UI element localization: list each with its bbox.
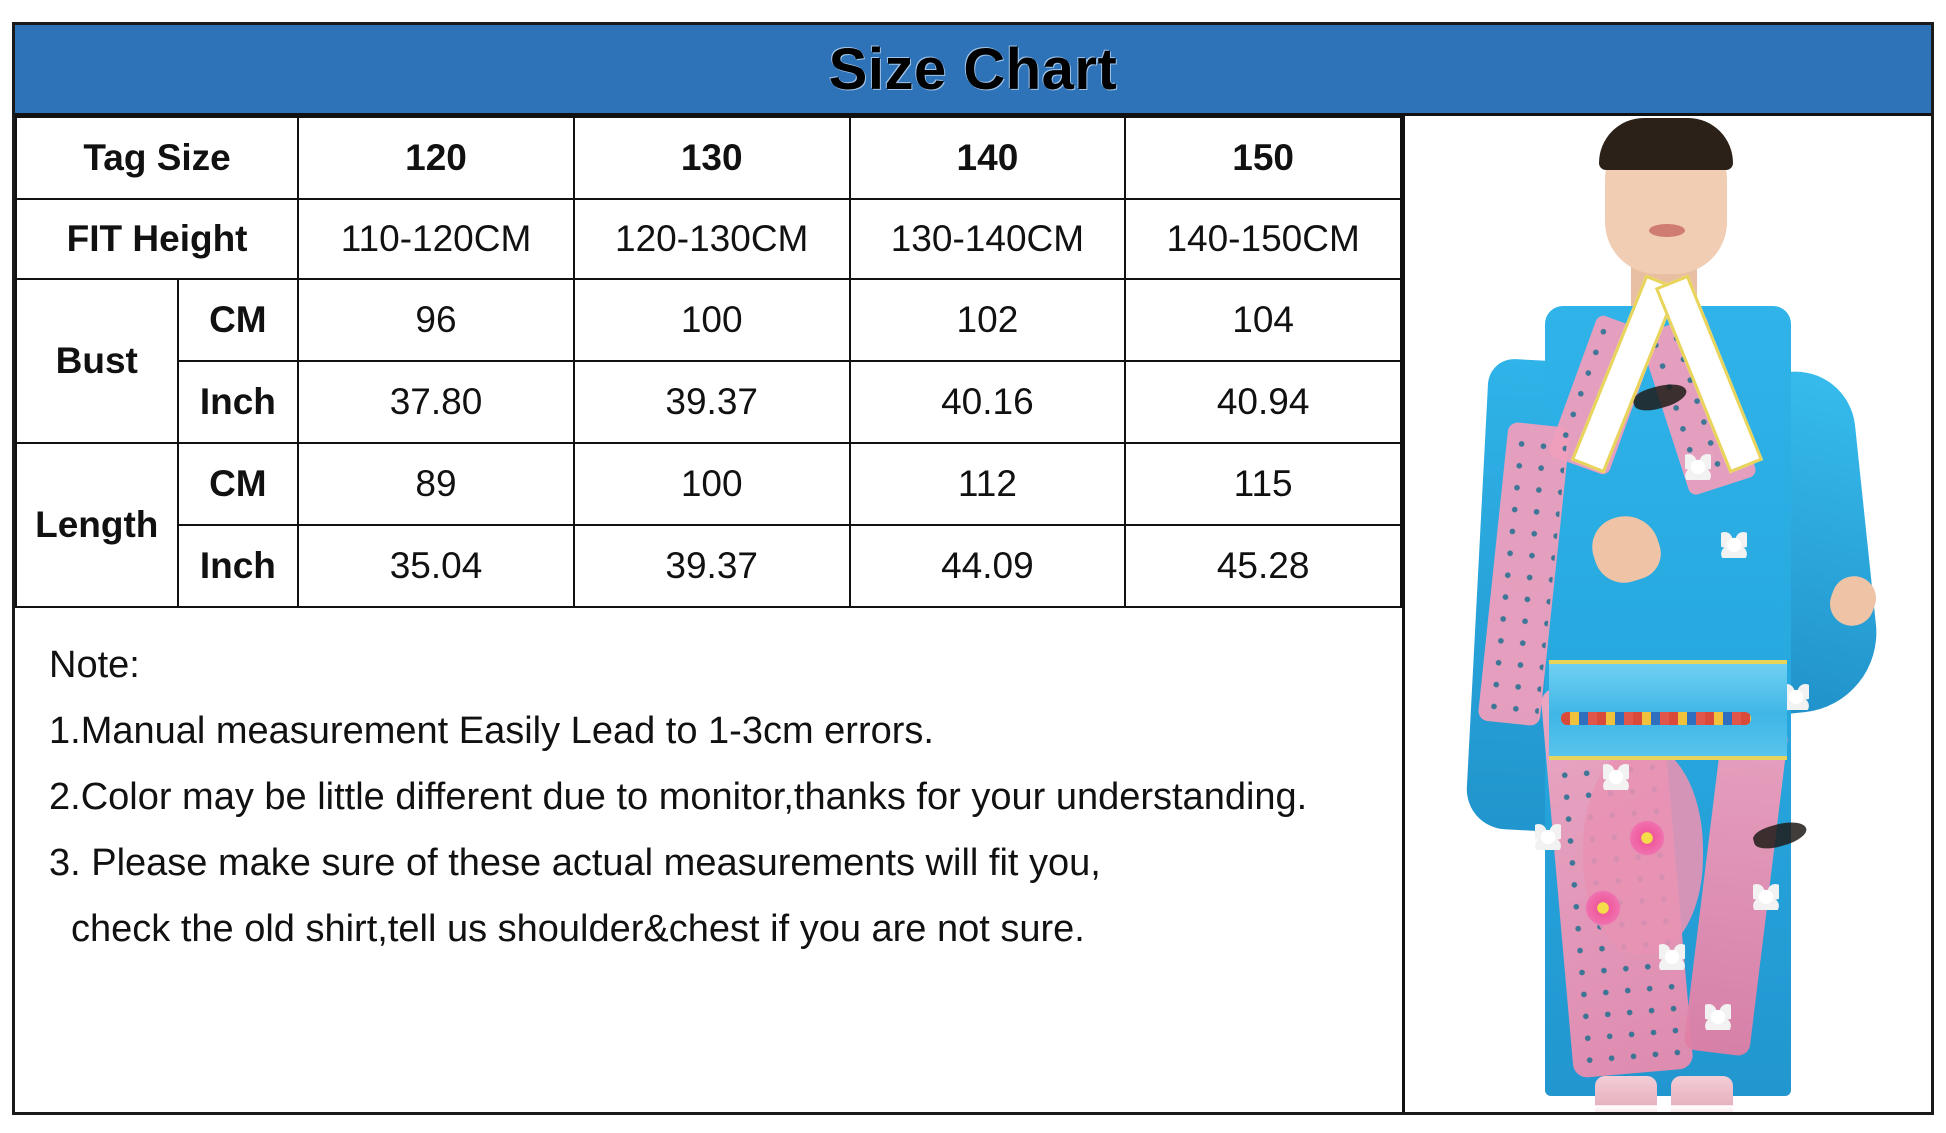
size-chart-page: Size Chart Tag Size [0, 0, 1946, 1133]
table-row-tag-size: Tag Size 120 130 140 150 [16, 117, 1401, 199]
note-section: Note: 1.Manual measurement Easily Lead t… [15, 608, 1402, 1112]
table-pane: Tag Size 120 130 140 150 FIT Height 110-… [15, 116, 1405, 1112]
blossom-6 [1603, 764, 1629, 790]
tag-size-140: 140 [850, 117, 1126, 199]
blossom-8 [1535, 824, 1561, 850]
length-inch-130: 39.37 [574, 525, 850, 607]
length-cm-120: 89 [298, 443, 574, 525]
model-hair [1599, 118, 1733, 170]
length-cm-140: 112 [850, 443, 1126, 525]
bust-cm-150: 104 [1125, 279, 1401, 361]
sandal-left [1595, 1076, 1657, 1112]
length-label: Length [16, 443, 178, 607]
length-unit-inch: Inch [178, 525, 299, 607]
tag-size-130: 130 [574, 117, 850, 199]
length-unit-cm: CM [178, 443, 299, 525]
bust-label: Bust [16, 279, 178, 443]
bust-cm-140: 102 [850, 279, 1126, 361]
bust-inch-150: 40.94 [1125, 361, 1401, 443]
bust-inch-130: 39.37 [574, 361, 850, 443]
blossom-5 [1705, 1004, 1731, 1030]
kimono-collar [1579, 274, 1755, 484]
tag-size-150: 150 [1125, 117, 1401, 199]
fit-height-label: FIT Height [16, 199, 298, 279]
bust-cm-120: 96 [298, 279, 574, 361]
page-title: Size Chart [829, 36, 1118, 103]
table-row-length-inch: Inch 35.04 39.37 44.09 45.28 [16, 525, 1401, 607]
table-row-bust-inch: Inch 37.80 39.37 40.16 40.94 [16, 361, 1401, 443]
length-inch-120: 35.04 [298, 525, 574, 607]
chart-body: Tag Size 120 130 140 150 FIT Height 110-… [15, 116, 1931, 1112]
length-inch-150: 45.28 [1125, 525, 1401, 607]
bust-cm-130: 100 [574, 279, 850, 361]
pink-flower-motif-2 [1579, 884, 1627, 932]
fit-height-140: 130-140CM [850, 199, 1126, 279]
table-row-fit-height: FIT Height 110-120CM 120-130CM 130-140CM… [16, 199, 1401, 279]
fit-height-120: 110-120CM [298, 199, 574, 279]
bust-unit-cm: CM [178, 279, 299, 361]
bust-unit-inch: Inch [178, 361, 299, 443]
note-heading: Note: [49, 632, 1402, 698]
note-line-3: 3. Please make sure of these actual meas… [49, 830, 1402, 896]
bust-inch-120: 37.80 [298, 361, 574, 443]
kimono-obi-cord [1561, 712, 1751, 725]
tag-size-120: 120 [298, 117, 574, 199]
note-line-1: 1.Manual measurement Easily Lead to 1-3c… [49, 698, 1402, 764]
sandal-right [1671, 1076, 1733, 1112]
blossom-4 [1659, 944, 1685, 970]
model-lips [1649, 224, 1685, 237]
product-photo-pane [1405, 116, 1931, 1112]
length-cm-150: 115 [1125, 443, 1401, 525]
length-inch-140: 44.09 [850, 525, 1126, 607]
blossom-2 [1721, 532, 1747, 558]
bust-inch-140: 40.16 [850, 361, 1126, 443]
kimono-obi-sash [1549, 660, 1787, 760]
table-row-length-cm: Length CM 89 100 112 115 [16, 443, 1401, 525]
note-line-2: 2.Color may be little different due to m… [49, 764, 1402, 830]
pink-flower-motif-1 [1623, 814, 1671, 862]
fit-height-130: 120-130CM [574, 199, 850, 279]
blossom-3 [1753, 884, 1779, 910]
chart-frame: Size Chart Tag Size [12, 22, 1934, 1115]
product-photo [1405, 116, 1931, 1112]
fit-height-150: 140-150CM [1125, 199, 1401, 279]
kimono-model-figure [1453, 124, 1883, 1112]
length-cm-130: 100 [574, 443, 850, 525]
size-table: Tag Size 120 130 140 150 FIT Height 110-… [15, 116, 1402, 608]
note-line-4: check the old shirt,tell us shoulder&che… [49, 896, 1402, 962]
table-row-bust-cm: Bust CM 96 100 102 104 [16, 279, 1401, 361]
tag-size-label: Tag Size [16, 117, 298, 199]
title-banner: Size Chart [15, 25, 1931, 116]
